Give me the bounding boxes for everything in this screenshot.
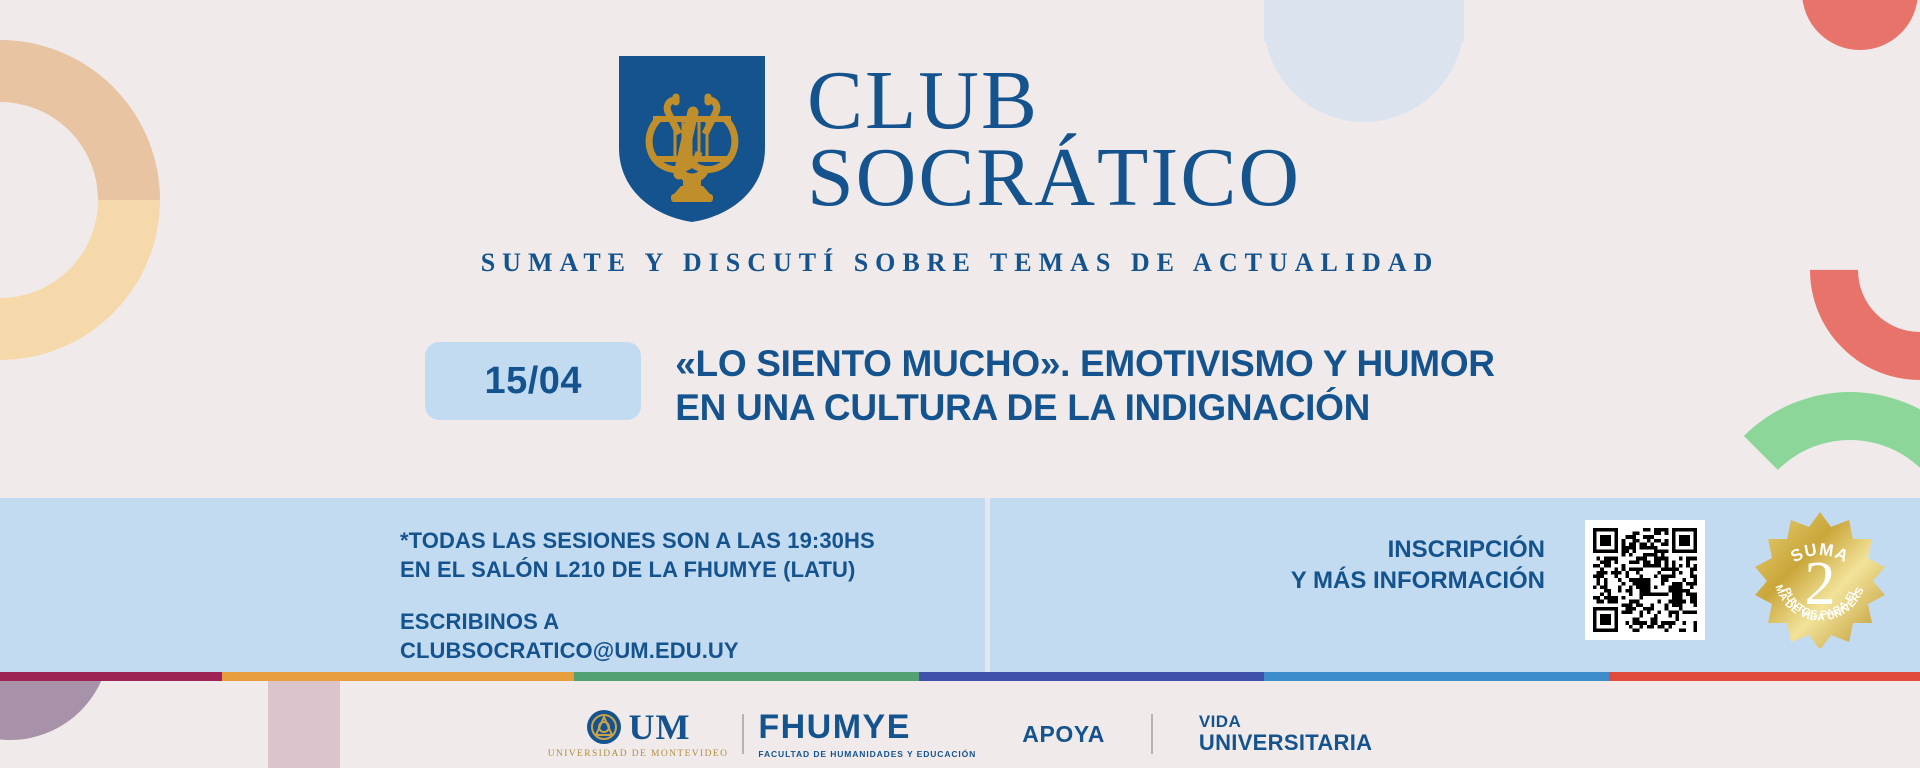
fhumye-name: FHUMYE [758, 710, 911, 744]
schedule-line1: *TODAS LAS SESIONES SON A LAS 19:30HS [400, 526, 875, 555]
lyre-shield-icon [619, 56, 765, 222]
brand-name-line2: SOCRÁTICO [807, 139, 1301, 216]
qr-code-icon[interactable] [1585, 520, 1705, 640]
stripe-segment-4 [1264, 672, 1609, 681]
um-crest-icon [586, 709, 622, 745]
poster-footer: UM UNIVERSIDAD DE MONTEVIDEO FHUMYE FACU… [0, 700, 1920, 768]
vu-line1: VIDA [1199, 713, 1372, 731]
tagline: SUMATE Y DISCUTÍ SOBRE TEMAS DE ACTUALID… [0, 248, 1920, 278]
session-row: 15/04 «LO SIENTO MUCHO». EMOTIVISMO Y HU… [0, 342, 1920, 429]
stripe-segment-1 [222, 672, 574, 681]
contact-line1: ESCRIBINOS A [400, 607, 875, 636]
signup-line2: Y MÁS INFORMACIÓN [985, 565, 1545, 596]
brand-lockup: CLUB SOCRÁTICO [0, 56, 1920, 222]
poster-canvas: CLUB SOCRÁTICO SUMATE Y DISCUTÍ SOBRE TE… [0, 0, 1920, 768]
info-bar-right: INSCRIPCIÓN Y MÁS INFORMACIÓN [985, 498, 1920, 672]
qr-code-matrix [1593, 528, 1697, 632]
vu-line2: UNIVERSITARIA [1199, 731, 1372, 754]
footer-divider-1 [742, 714, 744, 754]
brand-name-line1: CLUB [807, 62, 1301, 139]
session-date-badge: 15/04 [425, 342, 641, 420]
poster-header: CLUB SOCRÁTICO SUMATE Y DISCUTÍ SOBRE TE… [0, 0, 1920, 300]
stripe-segment-3 [919, 672, 1264, 681]
session-title-line2: EN UNA CULTURA DE LA INDIGNACIÓN [675, 386, 1494, 430]
stripe-segment-2 [574, 672, 919, 681]
vida-universitaria-logo: VIDA UNIVERSITARIA [1199, 713, 1372, 754]
points-seal-badge: SUMA 2 PUNTOS PARA EL DIPLOMA DE VIDA UN… [1750, 508, 1890, 648]
stripe-segment-5 [1609, 672, 1920, 681]
fhumye-subtitle: FACULTAD DE HUMANIDADES Y EDUCACIÓN [758, 749, 976, 759]
color-stripe [0, 672, 1920, 681]
wordmark: CLUB SOCRÁTICO [807, 56, 1301, 217]
um-name: UM [629, 709, 691, 745]
apoya-label: APOYA [1022, 721, 1105, 748]
signup-line1: INSCRIPCIÓN [985, 534, 1545, 565]
stripe-segment-0 [0, 672, 222, 681]
info-bar-left: *TODAS LAS SESIONES SON A LAS 19:30HS EN… [0, 498, 985, 672]
footer-divider-2 [1151, 714, 1153, 754]
um-logo: UM UNIVERSIDAD DE MONTEVIDEO FHUMYE FACU… [548, 709, 977, 759]
info-bar: *TODAS LAS SESIONES SON A LAS 19:30HS EN… [0, 498, 1920, 672]
signup-label: INSCRIPCIÓN Y MÁS INFORMACIÓN [985, 534, 1545, 596]
um-subtitle: UNIVERSIDAD DE MONTEVIDEO [548, 749, 729, 759]
schedule-and-contact: *TODAS LAS SESIONES SON A LAS 19:30HS EN… [400, 526, 875, 665]
session-title-line1: «LO SIENTO MUCHO». EMOTIVISMO Y HUMOR [675, 342, 1494, 386]
session-title: «LO SIENTO MUCHO». EMOTIVISMO Y HUMOR EN… [675, 342, 1494, 429]
contact-email[interactable]: CLUBSOCRATICO@UM.EDU.UY [400, 636, 875, 665]
schedule-line2: EN EL SALÓN L210 DE LA FHUMYE (LATU) [400, 555, 875, 584]
